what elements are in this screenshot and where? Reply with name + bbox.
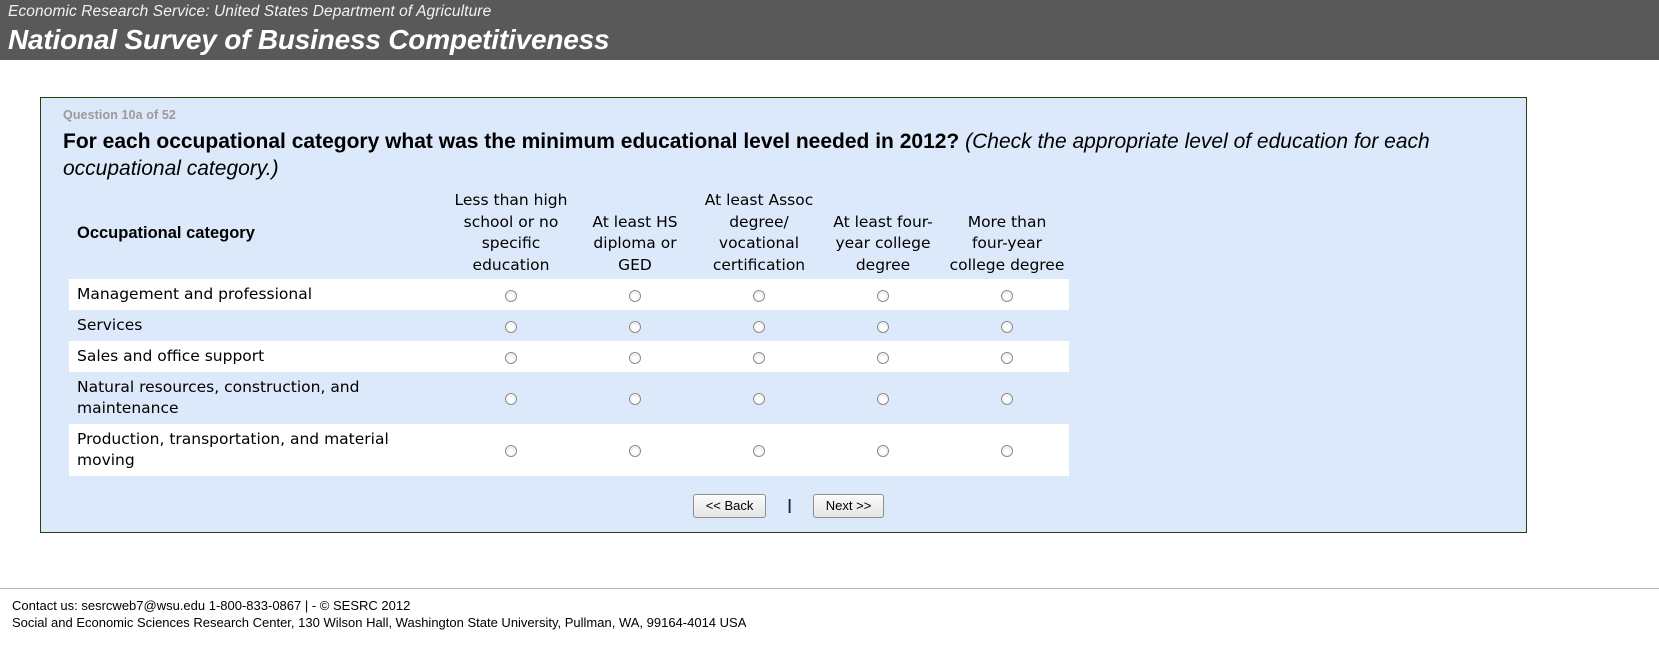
radio-cell-2-1[interactable]: [573, 341, 697, 372]
grid-header-row: Occupational category Less than high sch…: [69, 188, 1069, 279]
column-header-1: At least HS diploma or GED: [573, 188, 697, 279]
question-main-text: For each occupational category what was …: [63, 130, 959, 153]
radio-cell-1-0[interactable]: [449, 310, 573, 341]
radio-cell-2-0[interactable]: [449, 341, 573, 372]
radio-icon[interactable]: [753, 290, 765, 302]
radio-cell-0-1[interactable]: [573, 279, 697, 310]
radio-icon[interactable]: [753, 321, 765, 333]
radio-cell-3-1[interactable]: [573, 372, 697, 424]
row-label-3: Natural resources, construction, and mai…: [69, 372, 449, 424]
radio-icon[interactable]: [505, 352, 517, 364]
table-row: Natural resources, construction, and mai…: [69, 372, 1069, 424]
response-grid: Occupational category Less than high sch…: [69, 188, 1069, 476]
radio-icon[interactable]: [629, 321, 641, 333]
radio-cell-3-0[interactable]: [449, 372, 573, 424]
radio-cell-2-4[interactable]: [945, 341, 1069, 372]
column-header-4: More than four-year college degree: [945, 188, 1069, 279]
radio-cell-0-2[interactable]: [697, 279, 821, 310]
radio-cell-4-0[interactable]: [449, 424, 573, 476]
next-button[interactable]: Next >>: [813, 494, 885, 518]
back-button[interactable]: << Back: [693, 494, 767, 518]
footer-address-line: Social and Economic Sciences Research Ce…: [12, 615, 1659, 632]
radio-cell-1-4[interactable]: [945, 310, 1069, 341]
column-header-0: Less than high school or no specific edu…: [449, 188, 573, 279]
column-header-2: At least Assoc degree/ vocational certif…: [697, 188, 821, 279]
radio-icon[interactable]: [753, 352, 765, 364]
survey-title: National Survey of Business Competitiven…: [8, 23, 1659, 57]
row-label-2: Sales and office support: [69, 341, 449, 372]
radio-icon[interactable]: [505, 321, 517, 333]
nav-separator: |: [787, 497, 791, 514]
radio-cell-4-1[interactable]: [573, 424, 697, 476]
radio-icon[interactable]: [629, 290, 641, 302]
radio-icon[interactable]: [877, 290, 889, 302]
table-row: Services: [69, 310, 1069, 341]
radio-cell-0-3[interactable]: [821, 279, 945, 310]
radio-icon[interactable]: [629, 352, 641, 364]
radio-icon[interactable]: [1001, 321, 1013, 333]
site-header: Economic Research Service: United States…: [0, 0, 1659, 60]
table-row: Management and professional: [69, 279, 1069, 310]
radio-icon[interactable]: [1001, 290, 1013, 302]
radio-cell-1-2[interactable]: [697, 310, 821, 341]
table-row: Production, transportation, and material…: [69, 424, 1069, 476]
radio-cell-2-3[interactable]: [821, 341, 945, 372]
row-label-4: Production, transportation, and material…: [69, 424, 449, 476]
radio-icon[interactable]: [753, 393, 765, 405]
radio-icon[interactable]: [753, 445, 765, 457]
radio-icon[interactable]: [629, 393, 641, 405]
radio-cell-4-2[interactable]: [697, 424, 821, 476]
radio-cell-0-0[interactable]: [449, 279, 573, 310]
question-number: Question 10a of 52: [63, 108, 1506, 122]
radio-icon[interactable]: [505, 290, 517, 302]
radio-cell-0-4[interactable]: [945, 279, 1069, 310]
navigation-bar: << Back | Next >>: [61, 494, 1506, 518]
question-panel: Question 10a of 52 For each occupational…: [40, 97, 1527, 533]
radio-cell-3-2[interactable]: [697, 372, 821, 424]
radio-cell-1-1[interactable]: [573, 310, 697, 341]
site-footer: Contact us: sesrcweb7@wsu.edu 1-800-833-…: [0, 588, 1659, 631]
question-text: For each occupational category what was …: [63, 128, 1506, 182]
grid-header: Occupational category Less than high sch…: [69, 188, 1069, 279]
radio-icon[interactable]: [505, 445, 517, 457]
grid-body: Management and professional Services: [69, 279, 1069, 476]
row-label-1: Services: [69, 310, 449, 341]
radio-icon[interactable]: [1001, 393, 1013, 405]
radio-icon[interactable]: [1001, 352, 1013, 364]
radio-icon[interactable]: [505, 393, 517, 405]
radio-icon[interactable]: [877, 445, 889, 457]
radio-cell-3-4[interactable]: [945, 372, 1069, 424]
radio-icon[interactable]: [877, 352, 889, 364]
radio-icon[interactable]: [877, 393, 889, 405]
footer-contact-line: Contact us: sesrcweb7@wsu.edu 1-800-833-…: [12, 598, 1659, 615]
radio-cell-2-2[interactable]: [697, 341, 821, 372]
column-header-3: At least four-year college degree: [821, 188, 945, 279]
radio-cell-4-4[interactable]: [945, 424, 1069, 476]
table-row: Sales and office support: [69, 341, 1069, 372]
radio-icon[interactable]: [1001, 445, 1013, 457]
radio-icon[interactable]: [877, 321, 889, 333]
category-column-header: Occupational category: [69, 188, 449, 279]
agency-name: Economic Research Service: United States…: [8, 2, 1659, 22]
radio-cell-1-3[interactable]: [821, 310, 945, 341]
radio-cell-3-3[interactable]: [821, 372, 945, 424]
row-label-0: Management and professional: [69, 279, 449, 310]
content-area: Question 10a of 52 For each occupational…: [0, 60, 1659, 588]
radio-icon[interactable]: [629, 445, 641, 457]
radio-cell-4-3[interactable]: [821, 424, 945, 476]
